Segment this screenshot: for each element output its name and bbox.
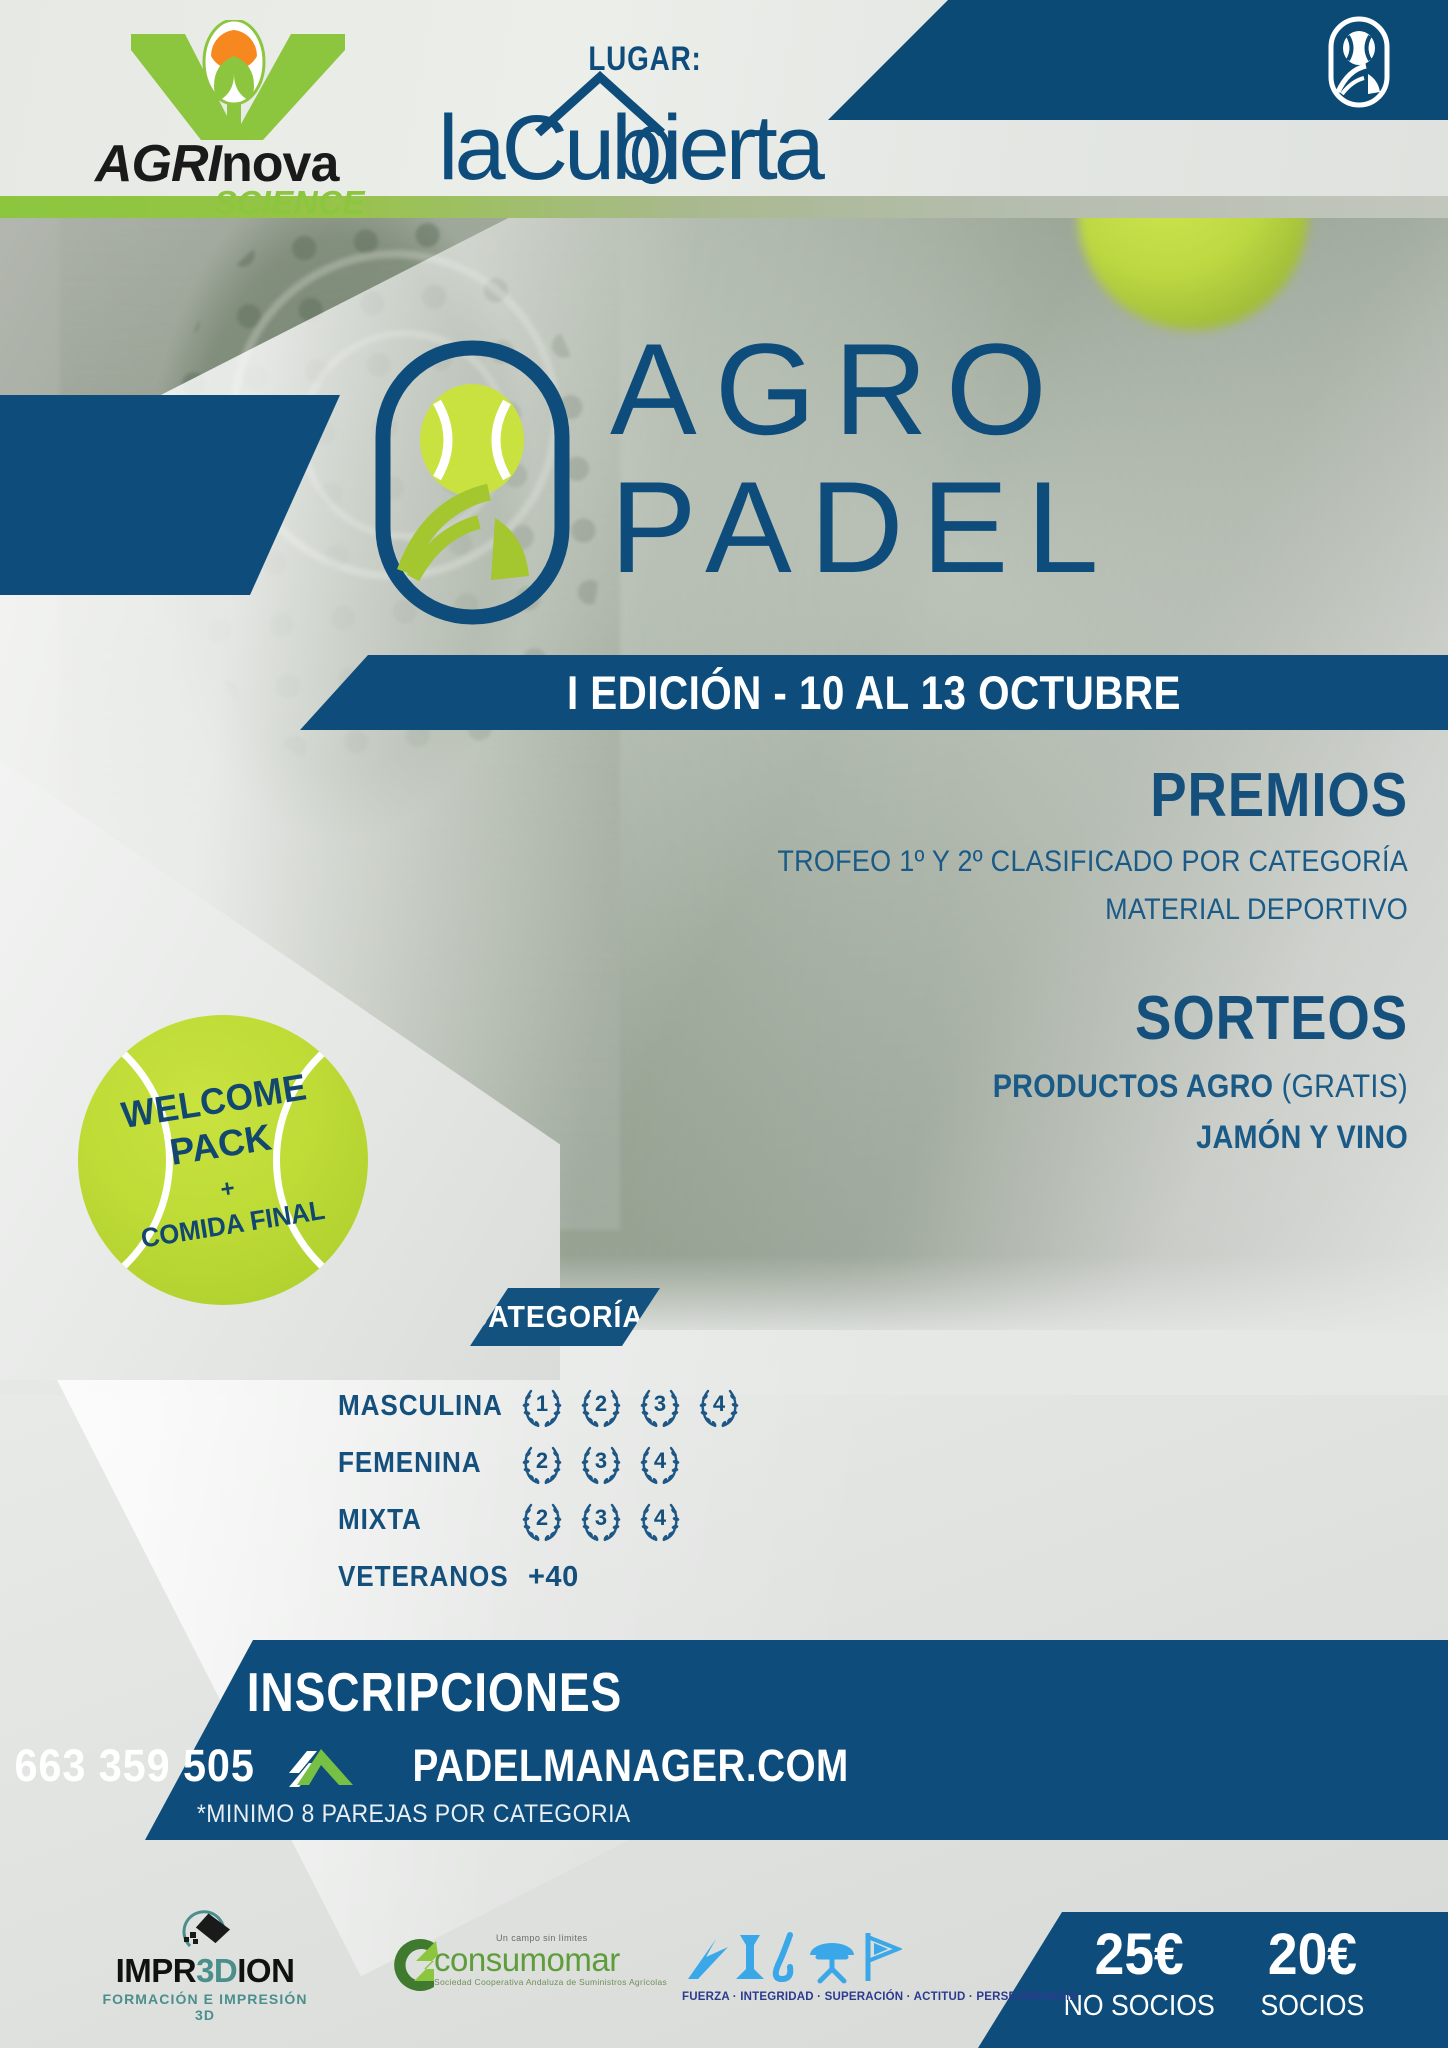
sponsor-consumomar-text: Un campo sin límites consumomar Sociedad…	[434, 1943, 667, 1987]
category-name: MASCULINA	[338, 1390, 500, 1423]
welcome-pack-ball: WELCOME PACK + COMIDA FINAL	[78, 1015, 368, 1305]
venue-block: LUGAR: laCub ierta laCubierta	[430, 40, 860, 199]
welcome-pack-plus: +	[218, 1174, 236, 1204]
category-name: VETERANOS	[338, 1561, 500, 1594]
laurel-level-number: 3	[636, 1385, 684, 1429]
price-non-member: 25€ NO SOCIOS	[1057, 1926, 1221, 2023]
sponsor-impr3dion-tagline: FORMACIÓN E IMPRESIÓN 3D	[90, 1991, 320, 2023]
sprout-leaf-icon	[123, 20, 353, 140]
price-label: NO SOCIOS	[1064, 1990, 1215, 2023]
laurel-level-number: 2	[577, 1385, 625, 1429]
laurel-wreath-icon: 4	[636, 1442, 684, 1486]
3d-printer-icon	[90, 1908, 320, 1954]
sponsor-logos: IMPR3DION FORMACIÓN E IMPRESIÓN 3D Un ca…	[90, 1890, 970, 2040]
svg-text:ierta: ierta	[662, 97, 826, 191]
sponsor-fisap: FUERZA · INTEGRIDAD · SUPERACIÓN · ACTIT…	[682, 1927, 902, 2003]
svg-text:laCub: laCub	[438, 97, 659, 191]
raffle-line-2: JAMÓN Y VINO	[742, 1119, 1408, 1156]
title-line-padel: PADEL	[610, 468, 1117, 588]
sponsor-consumomar-tagline: Sociedad Cooperativa Andaluza de Suminis…	[434, 1977, 667, 1987]
welcome-pack-text: WELCOME PACK + COMIDA FINAL	[78, 1015, 368, 1305]
laurel-level-number: 3	[577, 1442, 625, 1486]
prize-line-2: MATERIAL DEPORTIVO	[742, 893, 1408, 927]
raffle-line-1: PRODUCTOS AGRO (GRATIS)	[742, 1068, 1408, 1105]
sponsor-consumomar: Un campo sin límites consumomar Sociedad…	[376, 1929, 626, 2001]
agropadel-ball-field-emblem-icon	[375, 340, 570, 625]
laurel-wreath-icon: 4	[636, 1499, 684, 1543]
laurel-level-number: 1	[518, 1385, 566, 1429]
laurel-level-number: 3	[577, 1499, 625, 1543]
sponsor-consumomar-tagline-top: Un campo sin límites	[496, 1933, 588, 1943]
laurel-wreath-icon: 4	[695, 1385, 743, 1429]
sponsor-fisap-tagline: FUERZA · INTEGRIDAD · SUPERACIÓN · ACTIT…	[682, 1991, 902, 2003]
registration-phone[interactable]: 663 359 505	[14, 1740, 254, 1792]
registration-note-text: *MINIMO 8 PAREJAS POR CATEGORIA	[197, 1800, 631, 1829]
laurel-wreath-icon: 1	[518, 1385, 566, 1429]
raffle-line-1-light: (GRATIS)	[1282, 1068, 1408, 1104]
agropadel-emblem-icon	[1328, 16, 1390, 108]
prizes-heading: PREMIOS	[757, 760, 1408, 831]
laurel-wreath-icon: 3	[577, 1499, 625, 1543]
category-age-note: +40	[528, 1561, 579, 1594]
prizes-and-raffles-column: PREMIOS TROFEO 1º Y 2º CLASIFICADO POR C…	[668, 760, 1408, 1156]
category-row: MASCULINA 1 2 3 4	[338, 1378, 738, 1435]
category-name: MIXTA	[338, 1504, 500, 1537]
category-levels: 2 3 4	[518, 1499, 684, 1543]
laurel-level-number: 4	[636, 1442, 684, 1486]
registration-title: INSCRIPCIONES	[0, 1660, 868, 1724]
laurel-level-number: 4	[695, 1385, 743, 1429]
laurel-wreath-icon: 3	[577, 1442, 625, 1486]
registration-contact-row: 663 359 505 PADELMANAGER.COM	[0, 1740, 888, 1792]
category-row: VETERANOS +40	[338, 1549, 738, 1606]
sponsor-impr3dion-name: IMPR3DION	[90, 1954, 320, 1987]
category-row: FEMENINA 2 3 4	[338, 1435, 738, 1492]
price-amount: 20€	[1260, 1926, 1364, 1984]
sponsor-impr3dion: IMPR3DION FORMACIÓN E IMPRESIÓN 3D	[90, 1908, 320, 2023]
laurel-wreath-icon: 2	[518, 1442, 566, 1486]
registration-title-text: INSCRIPCIONES	[246, 1660, 621, 1724]
impr3dion-part-c: ION	[237, 1952, 294, 1989]
price-amount: 25€	[1064, 1926, 1215, 1984]
agrinova-name-agri: AGRI	[95, 135, 221, 193]
fisap-pictograms-icon	[682, 1927, 902, 1989]
main-title: AGRO PADEL	[610, 330, 1117, 587]
laurel-level-number: 4	[636, 1499, 684, 1543]
raffles-heading: SORTEOS	[757, 983, 1408, 1054]
padelmanager-chevron-icon	[287, 1743, 355, 1789]
laurel-wreath-icon: 2	[577, 1385, 625, 1429]
laurel-level-number: 2	[518, 1442, 566, 1486]
price-member: 20€ SOCIOS	[1256, 1926, 1369, 2023]
poster: AGRInova SCIENCE LUGAR: laCub ierta laCu…	[0, 0, 1448, 2048]
laurel-wreath-icon: 2	[518, 1499, 566, 1543]
laurel-wreath-icon: 3	[636, 1385, 684, 1429]
categories-list: MASCULINA 1 2 3 4	[338, 1378, 738, 1606]
category-levels: 1 2 3 4	[518, 1385, 743, 1429]
date-banner: I EDICIÓN - 10 AL 13 OCTUBRE	[300, 655, 1448, 730]
welcome-pack-line-3: COMIDA FINAL	[139, 1194, 327, 1254]
category-row: MIXTA 2 3 4	[338, 1492, 738, 1549]
price-label: SOCIOS	[1260, 1990, 1364, 2023]
agrinova-wordmark: AGRInova SCIENCE	[95, 138, 365, 219]
title-line-agro: AGRO	[610, 330, 1117, 450]
agrinova-logo: AGRInova SCIENCE	[95, 20, 365, 200]
raffle-line-1-bold: PRODUCTOS AGRO	[993, 1068, 1282, 1104]
impr3dion-part-3d: 3D	[196, 1952, 237, 1989]
registration-website[interactable]: PADELMANAGER.COM	[413, 1740, 849, 1792]
impr3dion-part-a: IMPR	[116, 1952, 197, 1989]
category-levels: 2 3 4	[518, 1442, 684, 1486]
sponsor-consumomar-name: consumomar	[434, 1943, 667, 1976]
registration-note: *MINIMO 8 PAREJAS POR CATEGORIA	[0, 1800, 828, 1829]
laurel-level-number: 2	[518, 1499, 566, 1543]
category-name: FEMENINA	[338, 1447, 500, 1480]
lacubierta-logo: laCub ierta laCubierta	[430, 89, 860, 199]
prize-line-1: TROFEO 1º Y 2º CLASIFICADO POR CATEGORÍA	[742, 845, 1408, 879]
date-banner-text: I EDICIÓN - 10 AL 13 OCTUBRE	[567, 665, 1181, 720]
